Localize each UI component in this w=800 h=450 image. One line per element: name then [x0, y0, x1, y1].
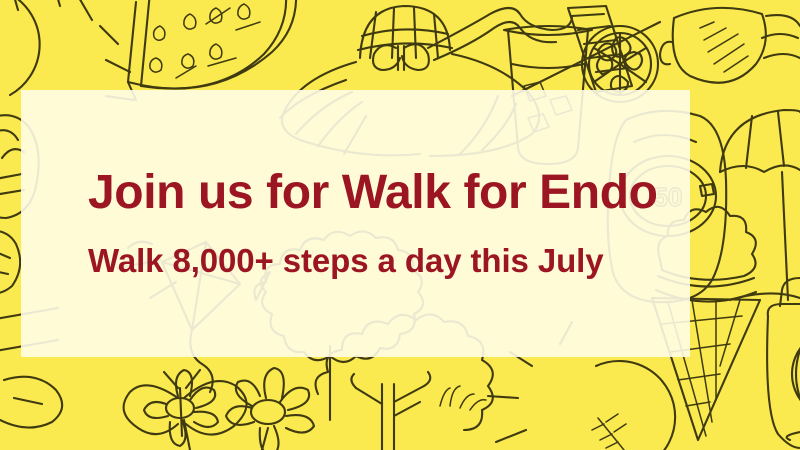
grass-tuft-icon — [440, 386, 486, 410]
camera-icon — [767, 278, 800, 448]
fern-sprig-icon — [592, 414, 626, 450]
beach-umbrella-icon — [720, 110, 800, 300]
sunglasses-icon — [660, 8, 800, 83]
walk-for-endo-banner: 50 — [0, 0, 800, 450]
banner-text-block: Join us for Walk for Endo Walk 8,000+ st… — [21, 90, 690, 357]
straw-stick — [512, 22, 660, 96]
banner-subheadline: Walk 8,000+ steps a day this July — [88, 244, 690, 279]
daisy-flower-icon — [144, 368, 314, 450]
leaf-sprig-icon — [0, 231, 20, 294]
banner-headline: Join us for Walk for Endo — [88, 168, 690, 218]
watermelon-slice-icon — [128, 0, 296, 100]
sun-icon — [10, 0, 134, 100]
